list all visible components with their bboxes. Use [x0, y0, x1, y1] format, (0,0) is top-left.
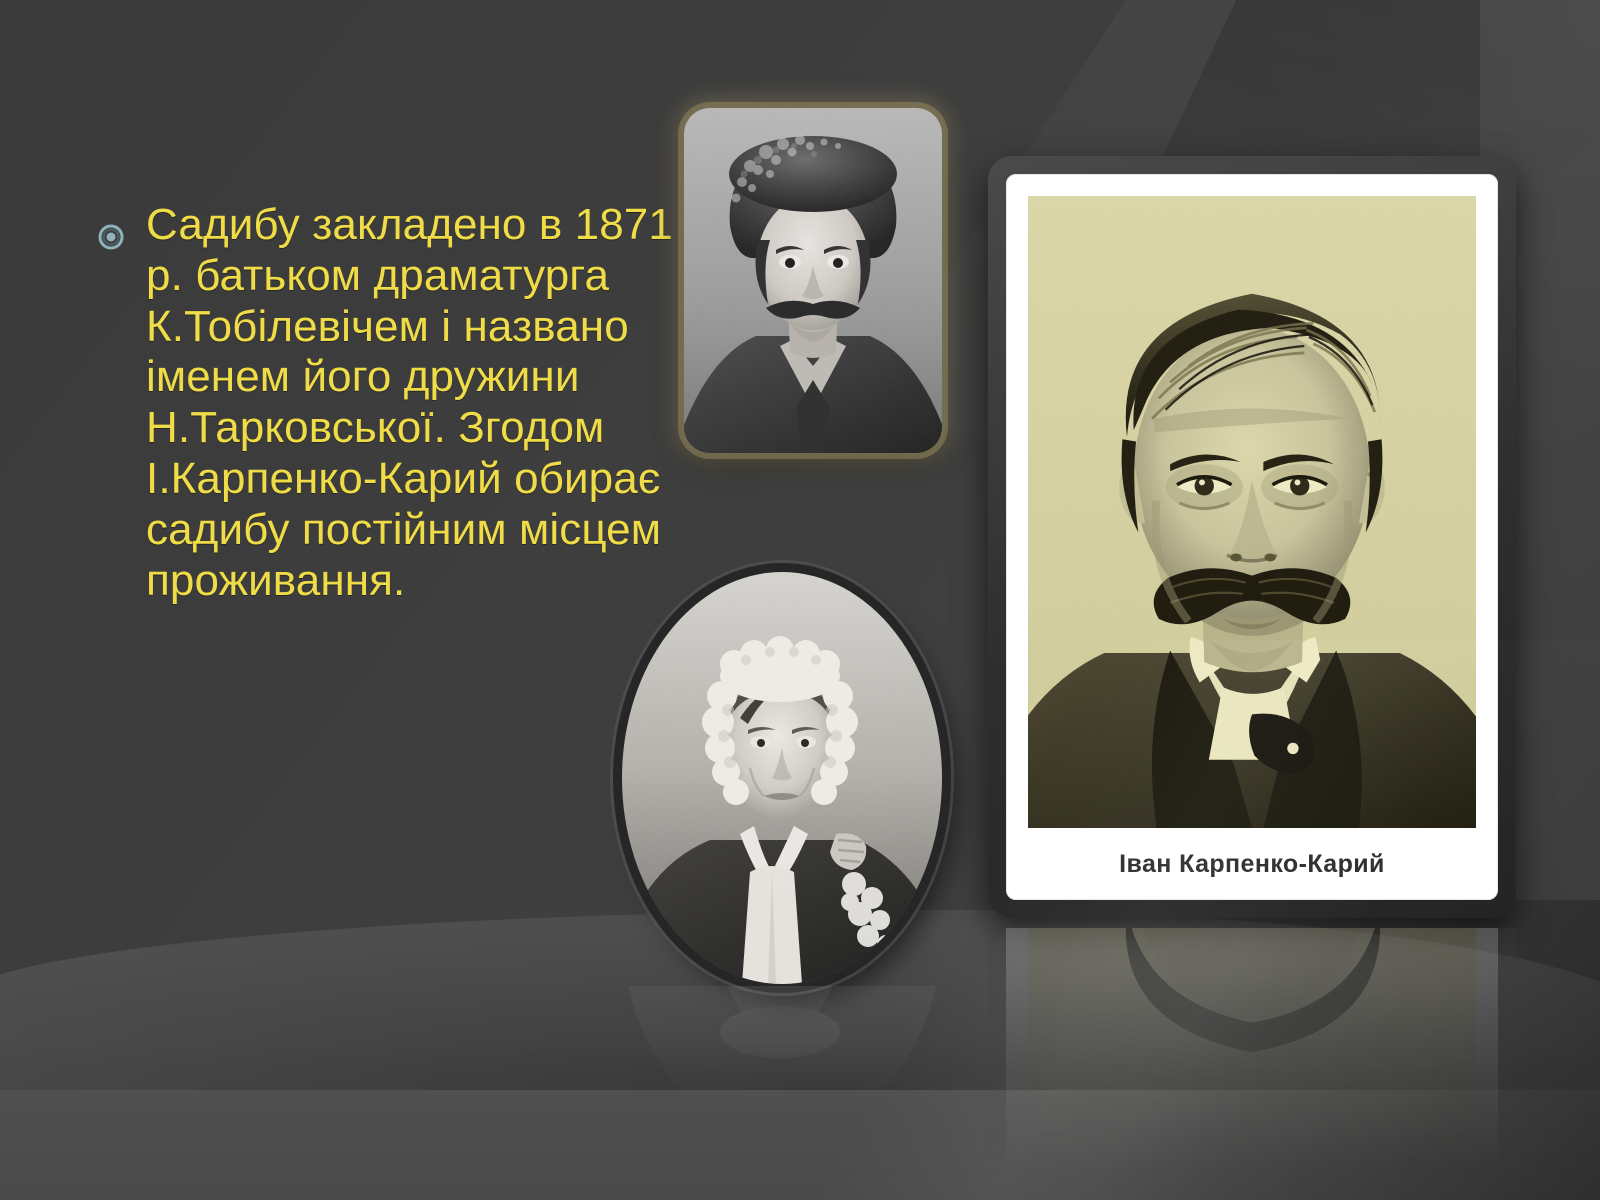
presentation-slide: Садибу закладено в 1871 р. батьком драма… — [0, 0, 1600, 1200]
body-text-block: Садибу закладено в 1871 р. батьком драма… — [96, 200, 682, 607]
portrait-ivan-karpenko-kary: Іван Карпенко-Карий — [988, 156, 1516, 918]
portrait-engraving-image — [1028, 196, 1476, 828]
portrait-caption: Іван Карпенко-Карий — [1028, 828, 1476, 900]
body-paragraph: Садибу закладено в 1871 р. батьком драма… — [146, 200, 682, 607]
background-corner-shadow — [980, 900, 1600, 1200]
portrait-mat: Іван Карпенко-Карий — [1006, 174, 1498, 900]
ring-bullet-icon — [96, 222, 126, 252]
photo-woman-oval — [622, 572, 942, 984]
photo-man-in-fur-hat — [684, 108, 942, 453]
